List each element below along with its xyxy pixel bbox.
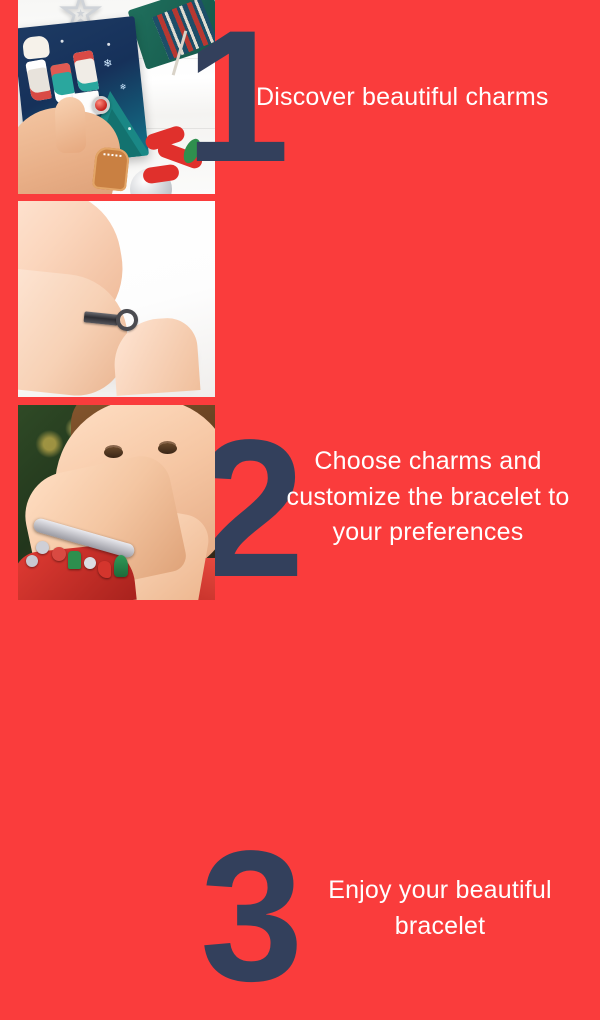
fingernail [18,204,23,256]
red-charm-bead [92,96,110,114]
bracelet-charm [68,551,81,569]
snow-dot [60,40,63,43]
bracelet-charm [36,541,49,554]
step-row-2: 2 Choose charms and customize the bracel… [0,201,600,397]
stocking-graphic [25,59,52,102]
llama-graphic [22,35,50,60]
step-2-photo [18,201,215,397]
step-caption-1: Discover beautiful charms [256,80,590,116]
bracelet-charm [114,555,128,577]
instruction-poster: ✮ ❄ ❄ ❄ [0,0,600,600]
snow-dot [107,43,110,46]
eye [158,443,177,454]
step-row-1: ✮ ❄ ❄ ❄ [0,0,600,194]
bracelet-charm [26,555,38,567]
step-number-3: 3 [200,841,301,994]
snowflake-icon: ❄ [103,59,113,71]
step-3-photo [18,405,215,600]
bracelet-charm [84,557,96,569]
finger [54,96,86,153]
snowflake-icon: ❄ [119,83,127,92]
stocking-graphic [73,50,100,93]
bracelet-charm [98,561,111,578]
step-row-3: 3 Enjoy your beautiful bracelet [0,405,600,600]
eye [104,447,123,458]
step-caption-3: Enjoy your beautiful bracelet [290,873,590,944]
bracelet-charm [52,547,66,561]
gingerbread-man-cookie [92,146,130,191]
